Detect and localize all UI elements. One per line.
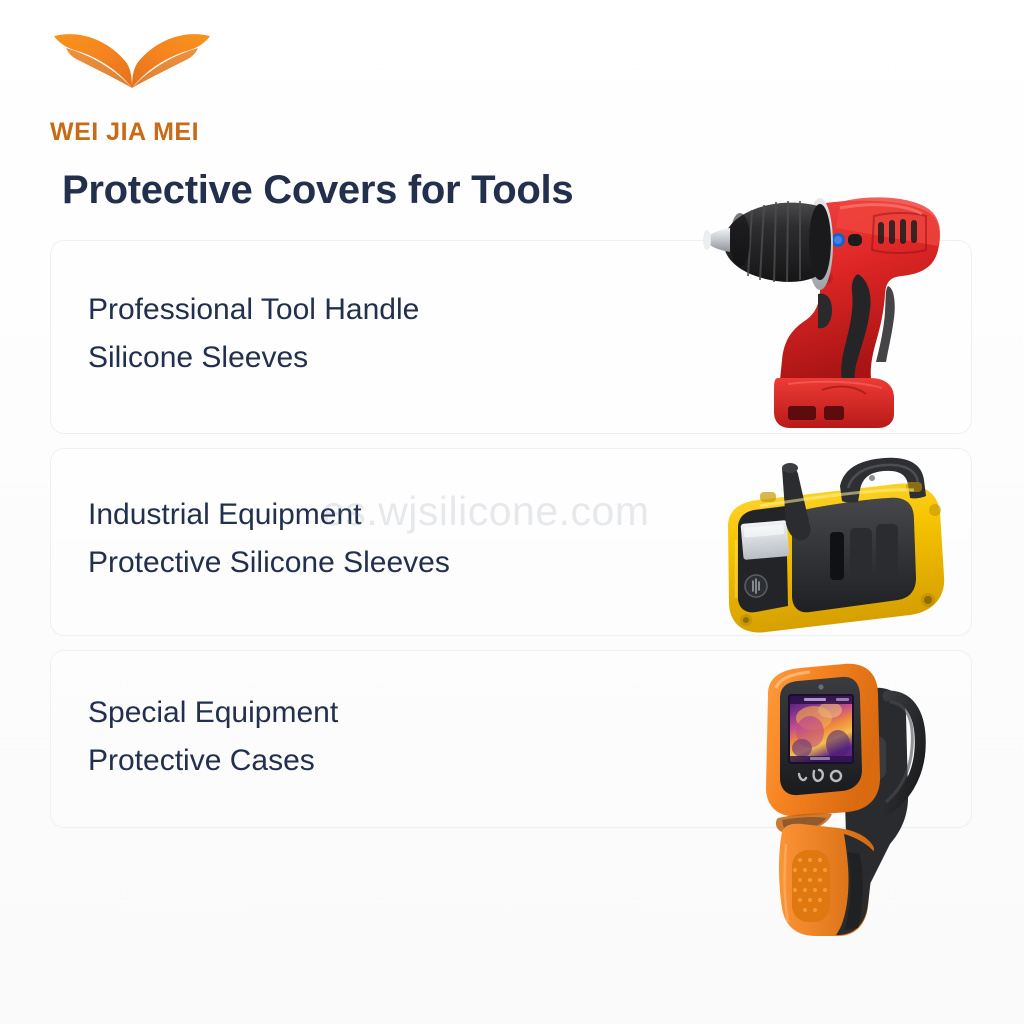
page-title: Protective Covers for Tools <box>62 168 573 213</box>
brand-wordmark: WEI JIA MEI <box>50 118 199 147</box>
wing-bird-logo-icon <box>48 26 216 92</box>
industrial-radio-device-icon <box>700 448 970 648</box>
thermal-imaging-camera-icon <box>752 652 972 952</box>
brand-logo: WEI JIA MEI <box>48 26 248 136</box>
product-card-2-label: Industrial Equipment Protective Silicone… <box>88 491 450 587</box>
product-card-1-label: Professional Tool Handle Silicone Sleeve… <box>88 286 419 382</box>
poster-canvas: WEI JIA MEI Protective Covers for Tools … <box>0 0 1024 1024</box>
cordless-drill-icon <box>690 178 990 438</box>
product-card-3-label: Special Equipment Protective Cases <box>88 689 338 785</box>
